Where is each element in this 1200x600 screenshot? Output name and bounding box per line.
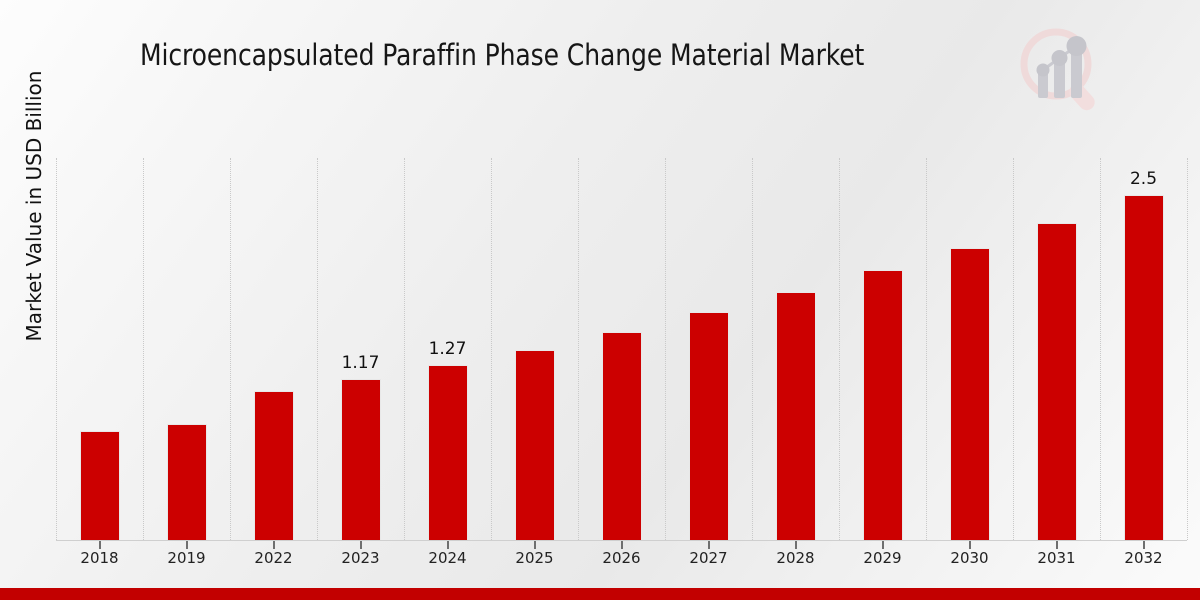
gridline — [317, 158, 319, 540]
bar-2025[interactable] — [515, 350, 555, 540]
x-axis-label-2023: 2023 — [316, 549, 406, 567]
x-tick-2026 — [621, 541, 623, 549]
gridline — [665, 158, 667, 540]
bar-2027[interactable] — [689, 312, 729, 540]
bar-2032[interactable] — [1124, 195, 1164, 540]
x-tick-2018 — [99, 541, 101, 549]
x-tick-2027 — [708, 541, 710, 549]
bar-value-label-2023: 1.17 — [321, 353, 401, 373]
x-tick-2030 — [969, 541, 971, 549]
x-tick-2019 — [186, 541, 188, 549]
plot-area — [56, 158, 1187, 540]
x-tick-2025 — [534, 541, 536, 549]
bar-2030[interactable] — [950, 248, 990, 540]
bar-2022[interactable] — [254, 391, 294, 540]
x-axis-label-2028: 2028 — [751, 549, 841, 567]
gridline — [926, 158, 928, 540]
x-axis-label-2022: 2022 — [229, 549, 319, 567]
gridline — [1013, 158, 1015, 540]
x-tick-2024 — [447, 541, 449, 549]
gridline — [752, 158, 754, 540]
x-tick-2029 — [882, 541, 884, 549]
gridline — [491, 158, 493, 540]
gridline — [404, 158, 406, 540]
bar-2023[interactable] — [341, 379, 381, 540]
gridline — [839, 158, 841, 540]
x-tick-2023 — [360, 541, 362, 549]
gridline — [578, 158, 580, 540]
x-tick-2031 — [1056, 541, 1058, 549]
bar-2018[interactable] — [80, 431, 120, 540]
x-axis-label-2026: 2026 — [577, 549, 667, 567]
bar-2031[interactable] — [1037, 223, 1077, 540]
x-tick-2032 — [1143, 541, 1145, 549]
x-axis-label-2025: 2025 — [490, 549, 580, 567]
x-axis-label-2024: 2024 — [403, 549, 493, 567]
y-axis-title: Market Value in USD Billion — [22, 0, 46, 416]
footer-accent-bar — [0, 588, 1200, 600]
gridline — [56, 158, 58, 540]
gridline — [230, 158, 232, 540]
x-axis-label-2032: 2032 — [1099, 549, 1189, 567]
x-tick-2028 — [795, 541, 797, 549]
gridline — [1187, 158, 1189, 540]
bar-2026[interactable] — [602, 332, 642, 540]
x-axis-label-2018: 2018 — [55, 549, 145, 567]
x-axis-label-2030: 2030 — [925, 549, 1015, 567]
x-axis-label-2031: 2031 — [1012, 549, 1102, 567]
gridline — [143, 158, 145, 540]
x-axis-label-2027: 2027 — [664, 549, 754, 567]
bar-2029[interactable] — [863, 270, 903, 540]
bar-2019[interactable] — [167, 424, 207, 540]
x-axis-label-2019: 2019 — [142, 549, 232, 567]
bar-2024[interactable] — [428, 365, 468, 540]
gridline — [1100, 158, 1102, 540]
chart-page: Microencapsulated Paraffin Phase Change … — [0, 0, 1200, 600]
bar-value-label-2024: 1.27 — [408, 339, 488, 359]
page-title: Microencapsulated Paraffin Phase Change … — [140, 38, 966, 72]
magnifier-bar-chart-logo-icon — [1012, 24, 1108, 116]
x-tick-2022 — [273, 541, 275, 549]
x-axis-label-2029: 2029 — [838, 549, 928, 567]
bar-value-label-2032: 2.5 — [1104, 169, 1184, 189]
bar-2028[interactable] — [776, 292, 816, 540]
